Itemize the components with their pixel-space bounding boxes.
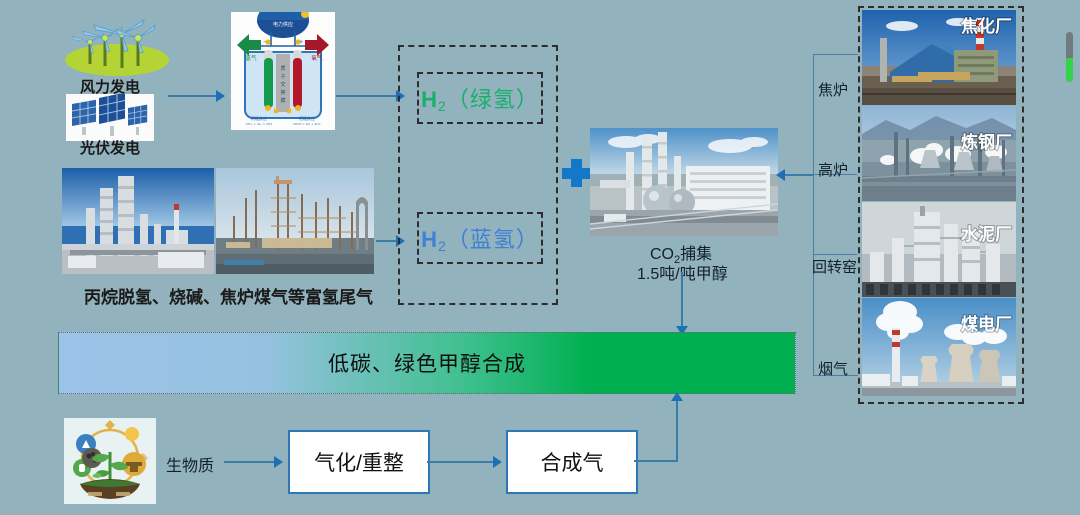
svg-text:2H2O = O2 + 4H+: 2H2O = O2 + 4H+: [293, 122, 322, 126]
coking-plant-photo: 焦化厂: [862, 10, 1016, 105]
arrow-head: [274, 456, 283, 468]
svg-text:氢气: 氢气: [245, 54, 257, 62]
svg-text:换: 换: [280, 89, 285, 96]
bracket-tick-2: [813, 254, 857, 255]
svg-text:氧气: 氧气: [311, 54, 323, 62]
svg-text:水泥厂: 水泥厂: [961, 224, 1012, 245]
arrow-co2-to-synthesis: [681, 272, 683, 330]
gasification-reforming-label: 气化/重整: [314, 447, 404, 477]
rich-hydrogen-label: 丙烷脱氢、烧碱、焦炉煤气等富氢尾气: [84, 283, 373, 308]
svg-text:交: 交: [280, 81, 285, 88]
gasification-reforming-box[interactable]: 气化/重整: [288, 430, 430, 494]
page-scroll-pill[interactable]: [1066, 32, 1073, 82]
blue-hydrogen-box: H2（蓝氢）: [417, 212, 543, 264]
svg-text:阴极反应: 阴极反应: [251, 115, 267, 121]
arrow-sources-to-electrolyzer: [168, 95, 218, 97]
svg-text:焦化厂: 焦化厂: [960, 16, 1012, 37]
arrow-syngas-elbow-h: [634, 460, 678, 462]
biomass-source-label: 生物质: [166, 452, 214, 476]
bracket-label-rotary-kiln: 回转窑: [812, 256, 857, 277]
syngas-box[interactable]: 合成气: [506, 430, 638, 494]
arrow-head: [776, 169, 785, 181]
svg-text:膜: 膜: [280, 97, 285, 104]
diagram-canvas: 风力发电: [0, 0, 1080, 515]
bracket-label-flue-gas: 烟气: [818, 358, 848, 379]
wind-turbine-icon: [60, 8, 170, 78]
svg-text:电力供应: 电力供应: [273, 21, 293, 28]
arrow-head: [216, 90, 225, 102]
solar-power-label: 光伏发电: [80, 137, 140, 158]
cement-plant-photo: 水泥厂: [862, 202, 1016, 297]
emission-source-bracket: [813, 54, 858, 376]
green-hydrogen-box: H2（绿氢）: [417, 72, 543, 124]
svg-text:质: 质: [280, 65, 285, 72]
arrow-syngas-elbow-v: [676, 400, 678, 461]
green-hydrogen-label: H2（绿氢）: [421, 82, 539, 114]
svg-text:4H+ + 4e- = 2H2: 4H+ + 4e- = 2H2: [246, 122, 273, 126]
synthesis-bar-label: 低碳、绿色甲醇合成: [328, 348, 526, 378]
arrow-head: [671, 392, 683, 401]
co2-capture-plant-photo: [590, 128, 778, 236]
svg-text:煤电厂: 煤电厂: [961, 314, 1012, 335]
refinery-photo: [62, 168, 214, 274]
arrow-electrolyzer-to-green-h2: [336, 95, 401, 97]
blue-hydrogen-label: H2（蓝氢）: [421, 222, 539, 254]
arrow-gasification-to-syngas: [427, 461, 499, 463]
steel-mill-photo: 炼钢厂: [862, 106, 1016, 201]
coal-power-plant-photo: 煤电厂: [862, 298, 1016, 396]
bracket-label-blast-furnace: 高炉: [818, 159, 848, 180]
petrochemical-plant-photo: [216, 168, 374, 274]
bracket-label-coke-oven: 焦炉: [818, 79, 848, 100]
electrolysis-cell-icon: 电力供应 − + 质 子 交 换 膜 氢气 氧气: [231, 12, 335, 130]
arrow-head: [493, 456, 502, 468]
arrow-biomass-to-gasification: [224, 461, 280, 463]
svg-text:炼钢厂: 炼钢厂: [961, 132, 1012, 153]
solar-panel-icon: [66, 94, 154, 141]
biomass-cycle-icon: [64, 418, 156, 504]
svg-text:子: 子: [280, 73, 285, 80]
syngas-label: 合成气: [541, 447, 604, 477]
synthesis-bar: 低碳、绿色甲醇合成: [58, 332, 796, 394]
svg-text:阳极反应: 阳极反应: [299, 115, 315, 121]
